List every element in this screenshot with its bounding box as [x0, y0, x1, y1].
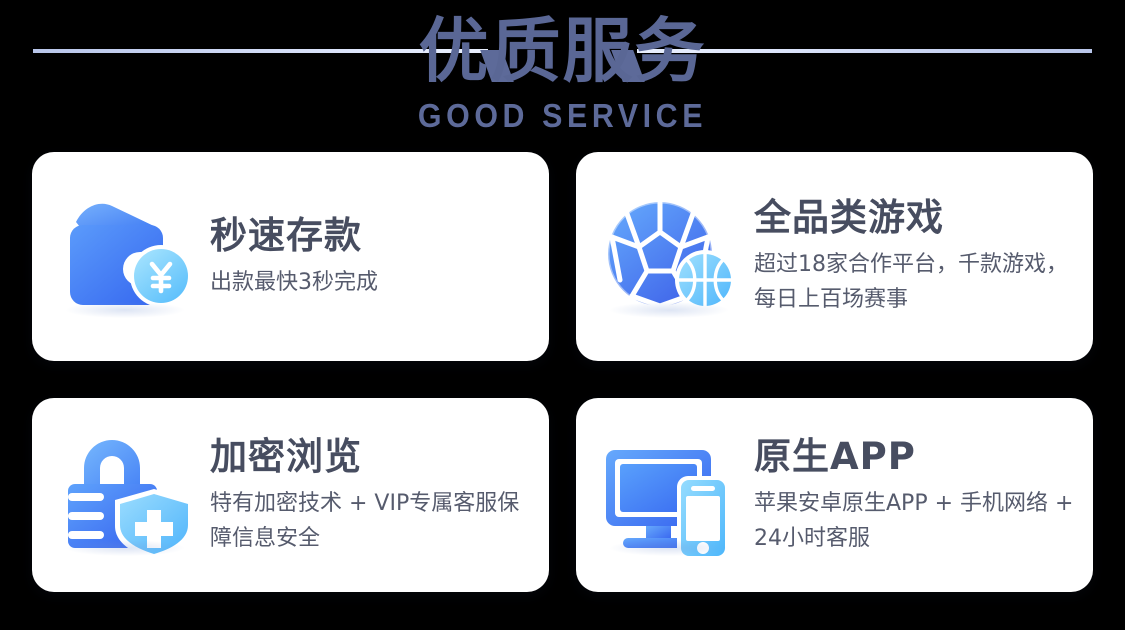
card-text-block: 加密浏览 特有加密技术 + VIP专属客服保障信息安全 [204, 435, 549, 556]
wallet-yen-icon [54, 192, 204, 322]
card-title: 加密浏览 [210, 435, 535, 479]
feature-card-grid: 秒速存款 出款最快3秒完成 [32, 152, 1093, 592]
card-description: 特有加密技术 + VIP专属客服保障信息安全 [210, 486, 535, 556]
card-text-block: 原生APP 苹果安卓原生APP + 手机网络 + 24小时客服 [748, 435, 1093, 556]
card-title: 原生APP [754, 435, 1079, 479]
card-text-block: 全品类游戏 超过18家合作平台，千款游戏，每日上百场赛事 [748, 196, 1093, 317]
lock-shield-icon [54, 430, 204, 560]
icon-shadow [66, 302, 184, 318]
feature-card-native-app[interactable]: 原生APP 苹果安卓原生APP + 手机网络 + 24小时客服 [576, 398, 1093, 592]
card-description: 超过18家合作平台，千款游戏，每日上百场赛事 [754, 247, 1079, 317]
card-title: 秒速存款 [210, 214, 535, 258]
page-subtitle: GOOD SERVICE [45, 97, 1080, 135]
feature-card-encryption[interactable]: 加密浏览 特有加密技术 + VIP专属客服保障信息安全 [32, 398, 549, 592]
monitor-phone-icon [598, 430, 748, 560]
card-description: 苹果安卓原生APP + 手机网络 + 24小时客服 [754, 486, 1079, 556]
feature-card-deposit[interactable]: 秒速存款 出款最快3秒完成 [32, 152, 549, 361]
icon-shadow [610, 302, 728, 318]
card-description: 出款最快3秒完成 [210, 265, 535, 300]
card-text-block: 秒速存款 出款最快3秒完成 [204, 214, 549, 300]
card-title: 全品类游戏 [754, 196, 1079, 240]
soccer-basketball-icon [598, 192, 748, 322]
icon-shadow [66, 540, 184, 556]
icon-shadow [610, 540, 728, 556]
feature-card-games[interactable]: 全品类游戏 超过18家合作平台，千款游戏，每日上百场赛事 [576, 152, 1093, 361]
page-title: 优质服务 [0, 8, 1125, 94]
page-header: 优质服务 GOOD SERVICE [0, 0, 1125, 140]
